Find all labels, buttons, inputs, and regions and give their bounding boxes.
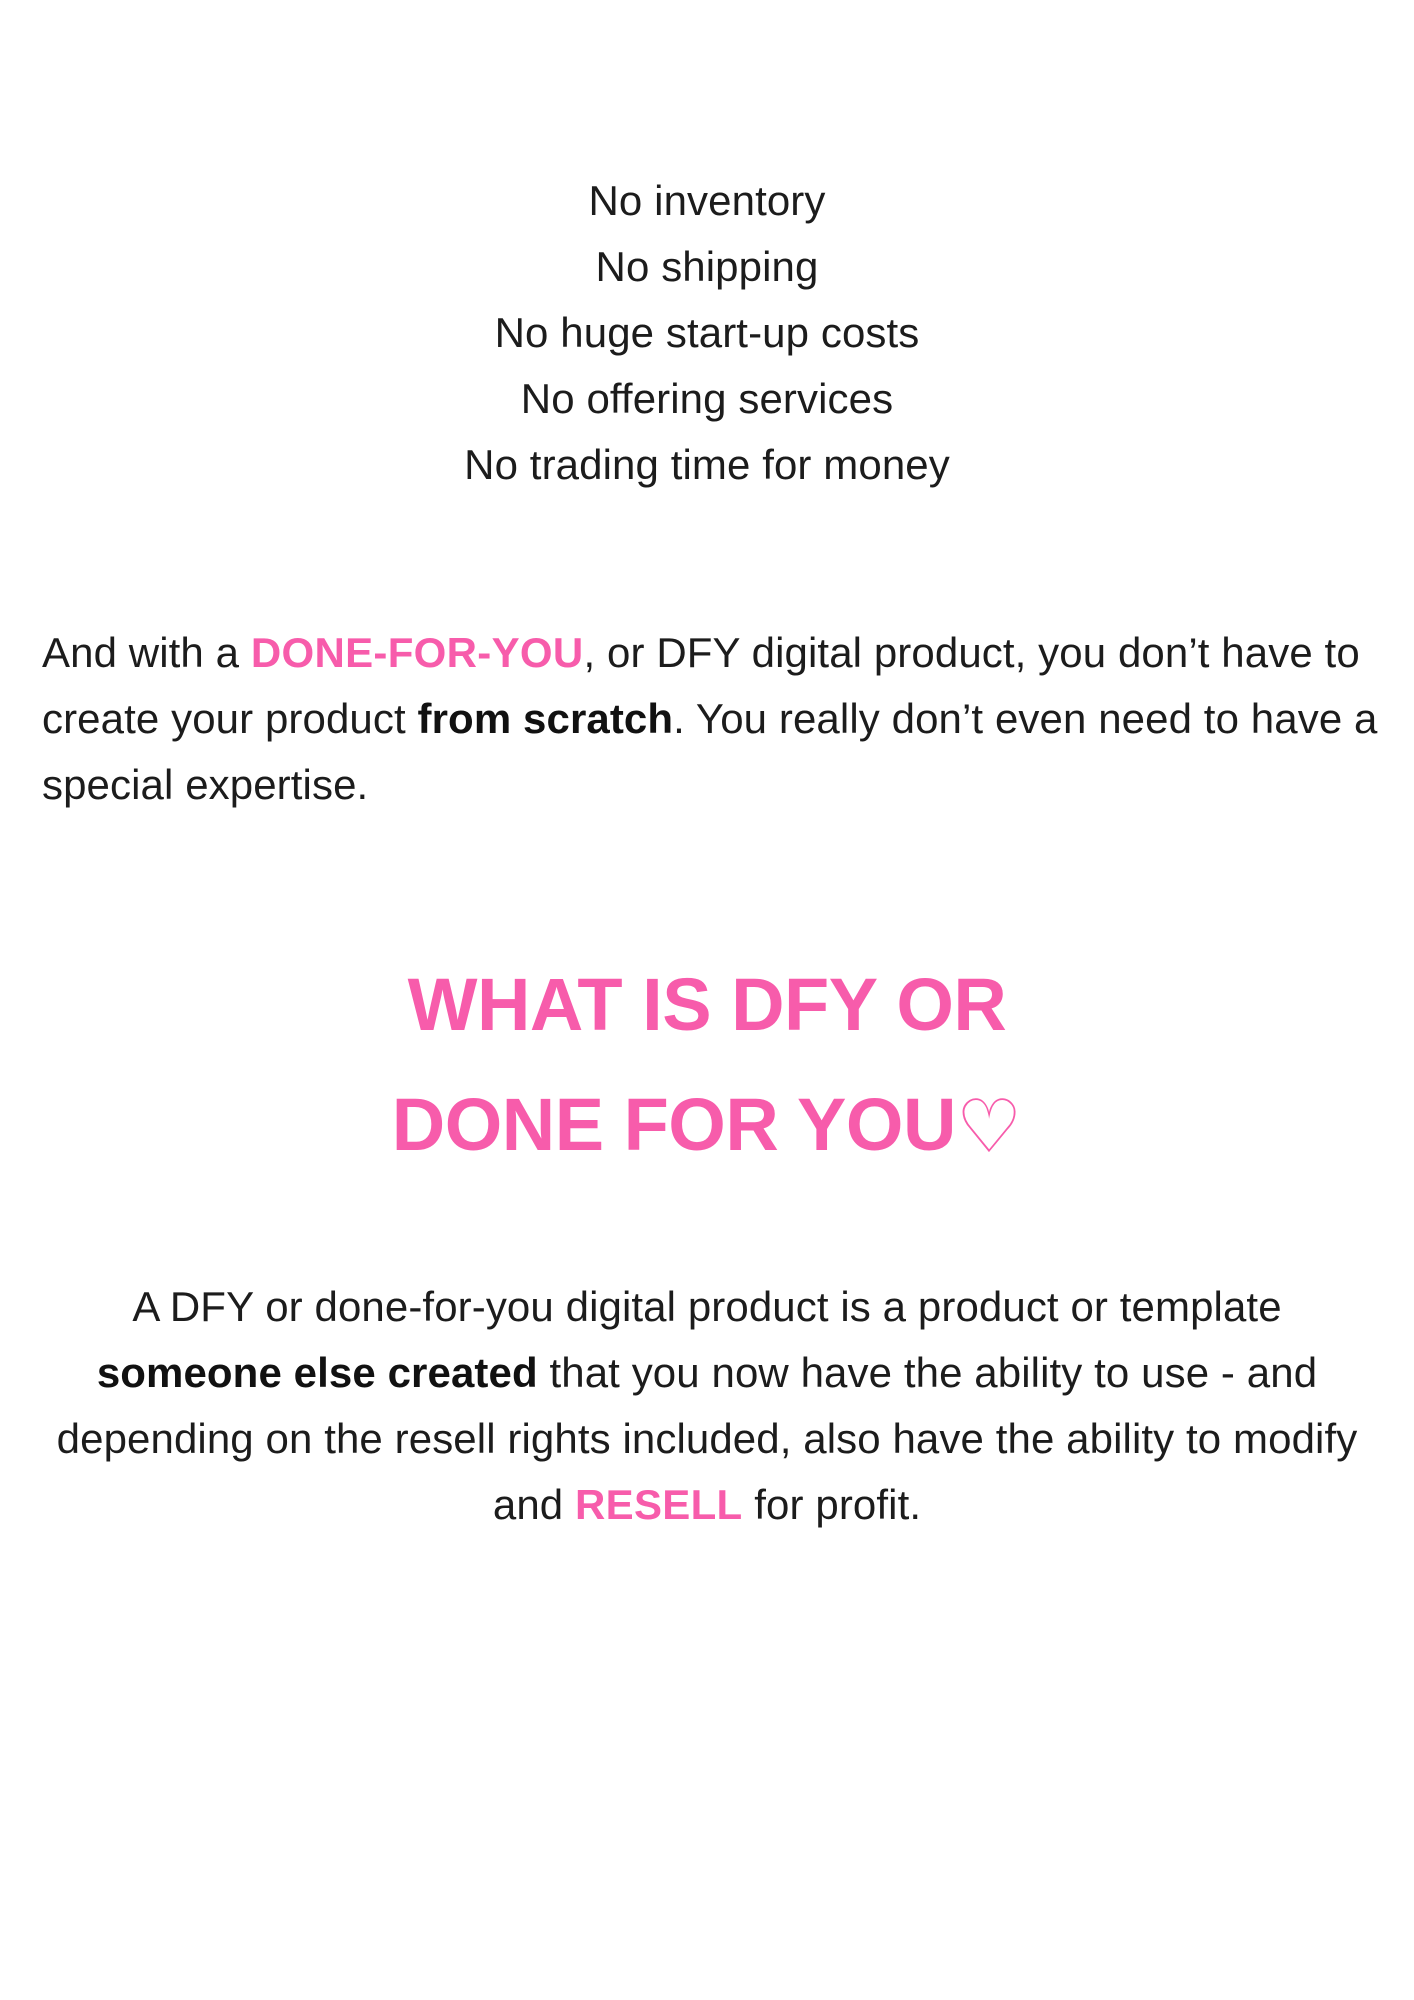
from-scratch-highlight: from scratch <box>418 695 674 742</box>
done-for-you-highlight: DONE-FOR-YOU <box>251 629 584 676</box>
definition-paragraph: A DFY or done-for-you digital product is… <box>40 1274 1374 1538</box>
outro-text-part3: for profit. <box>743 1481 922 1528</box>
list-item: No offering services <box>0 366 1414 432</box>
document-page: No inventory No shipping No huge start-u… <box>0 0 1414 2000</box>
headline-line-1: WHAT IS DFY OR <box>0 945 1414 1065</box>
intro-paragraph: And with a DONE-FOR-YOU, or DFY digital … <box>42 620 1382 818</box>
someone-else-created-highlight: someone else created <box>97 1349 538 1396</box>
outro-text-part1: A DFY or done-for-you digital product is… <box>132 1283 1281 1330</box>
list-item: No shipping <box>0 234 1414 300</box>
benefits-list: No inventory No shipping No huge start-u… <box>0 168 1414 498</box>
page-title: WHAT IS DFY OR DONE FOR YOU♡ <box>0 945 1414 1185</box>
intro-text-part1: And with a <box>42 629 251 676</box>
resell-highlight: RESELL <box>575 1481 742 1528</box>
headline-line-2-text: DONE FOR YOU <box>392 1083 956 1166</box>
list-item: No trading time for money <box>0 432 1414 498</box>
heart-outline-icon: ♡ <box>956 1085 1022 1168</box>
headline-line-2: DONE FOR YOU♡ <box>0 1065 1414 1185</box>
list-item: No inventory <box>0 168 1414 234</box>
list-item: No huge start-up costs <box>0 300 1414 366</box>
